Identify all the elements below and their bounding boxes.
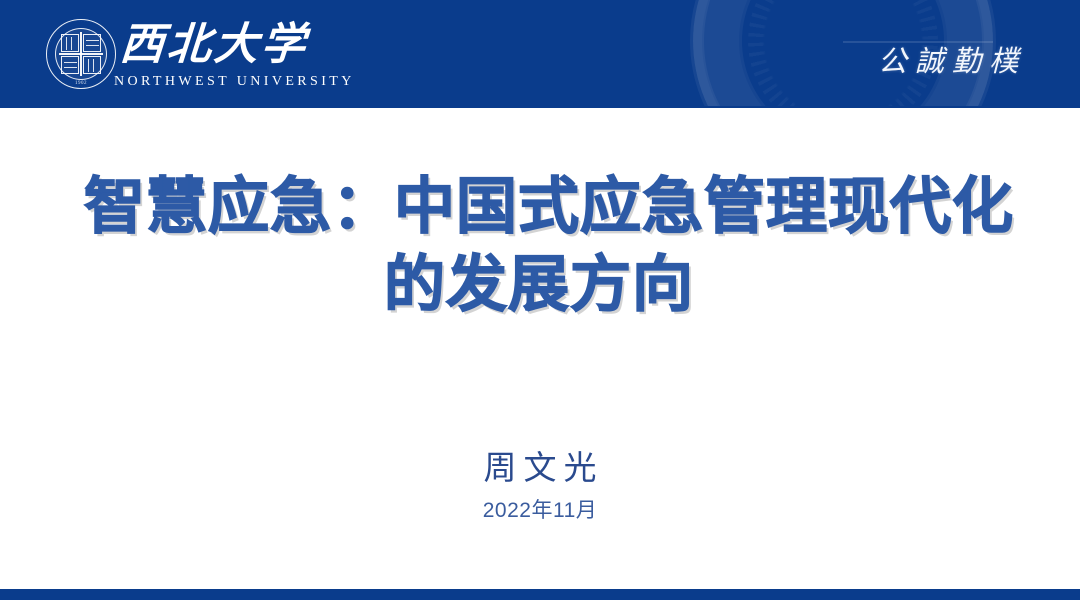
seal-crest-quadrant xyxy=(61,34,79,52)
slide-header-bar: 1902 西北大学 NORTHWEST UNIVERSITY 公誠勤樸 xyxy=(0,0,1080,108)
presentation-title-slide: 1902 西北大学 NORTHWEST UNIVERSITY 公誠勤樸 智慧应急… xyxy=(0,0,1080,600)
seal-crest-quadrant xyxy=(83,34,101,52)
slide-footer-bar xyxy=(0,589,1080,600)
presenter-name: 周文光 xyxy=(0,441,1080,489)
seal-crest-cross-horizontal xyxy=(59,53,103,55)
university-wordmark-english: NORTHWEST UNIVERSITY xyxy=(114,74,355,90)
slide-title-line-2: 的发展方向 xyxy=(0,246,1080,324)
university-motto: 公誠勤樸 xyxy=(878,38,1026,80)
presentation-date: 2022年11月 xyxy=(0,494,1080,524)
university-seal-icon: 1902 xyxy=(46,19,116,89)
seal-founding-year: 1902 xyxy=(46,81,116,86)
slide-title-line-1: 智慧应急：中国式应急管理现代化 xyxy=(0,168,1080,246)
seal-crest-quadrant xyxy=(61,56,79,74)
slide-title: 智慧应急：中国式应急管理现代化 的发展方向 xyxy=(0,168,1080,324)
seal-crest xyxy=(60,33,102,75)
seal-crest-quadrant xyxy=(83,56,101,74)
university-wordmark-chinese: 西北大学 xyxy=(118,19,310,71)
